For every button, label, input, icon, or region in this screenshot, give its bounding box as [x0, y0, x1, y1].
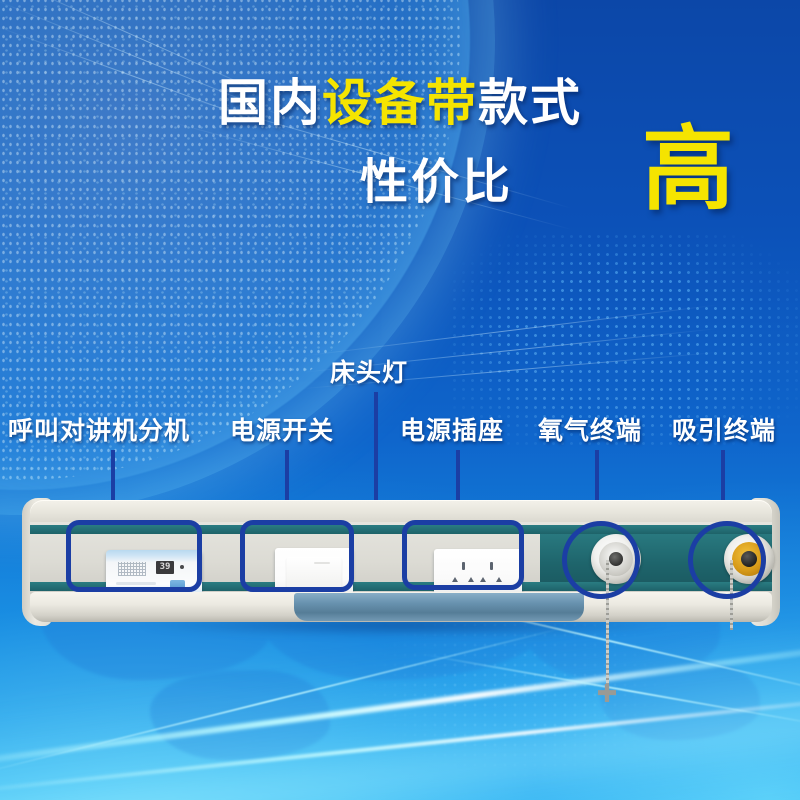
highlight-power-switch — [240, 520, 354, 592]
callout-label-intercom: 呼叫对讲机分机 — [8, 418, 190, 443]
headline-line-2: 性价比 高 — [0, 150, 800, 228]
highlight-power-socket — [402, 520, 524, 590]
callout-label-power-switch: 电源开关 — [230, 418, 334, 443]
callout-label-oxygen-terminal: 氧气终端 — [538, 418, 642, 443]
callout-label-bed-lamp: 床头灯 — [330, 360, 408, 385]
promo-banner: 国内设备带款式 性价比 高 呼叫对讲机分机 电源开关 床头灯 电源插座 氧气终端… — [0, 0, 800, 800]
oxygen-pull-chain-weight[interactable] — [598, 684, 616, 702]
halftone-world-map-icon — [450, 232, 800, 447]
light-swoosh-primary — [0, 630, 800, 777]
highlight-suction-terminal — [688, 521, 766, 599]
headline-subtext: 性价比 — [360, 158, 513, 206]
headline-word-1: 国内 — [218, 74, 322, 132]
headline-word-2: 设备带 — [322, 74, 478, 132]
earth-texture-overlay — [0, 0, 460, 480]
headline-word-3: 款式 — [478, 74, 582, 132]
highlight-oxygen-terminal — [562, 521, 640, 599]
light-swoosh-secondary — [0, 686, 800, 800]
light-streak — [0, 625, 571, 776]
headline-emphasis: 高 — [642, 124, 734, 216]
callout-label-power-socket: 电源插座 — [400, 418, 504, 443]
headline-block: 国内设备带款式 性价比 高 — [0, 78, 800, 228]
callout-label-suction-terminal: 吸引终端 — [672, 418, 776, 443]
bed-lamp-cover[interactable] — [294, 593, 584, 621]
hairline-streak — [302, 304, 719, 356]
highlight-intercom — [66, 520, 202, 592]
